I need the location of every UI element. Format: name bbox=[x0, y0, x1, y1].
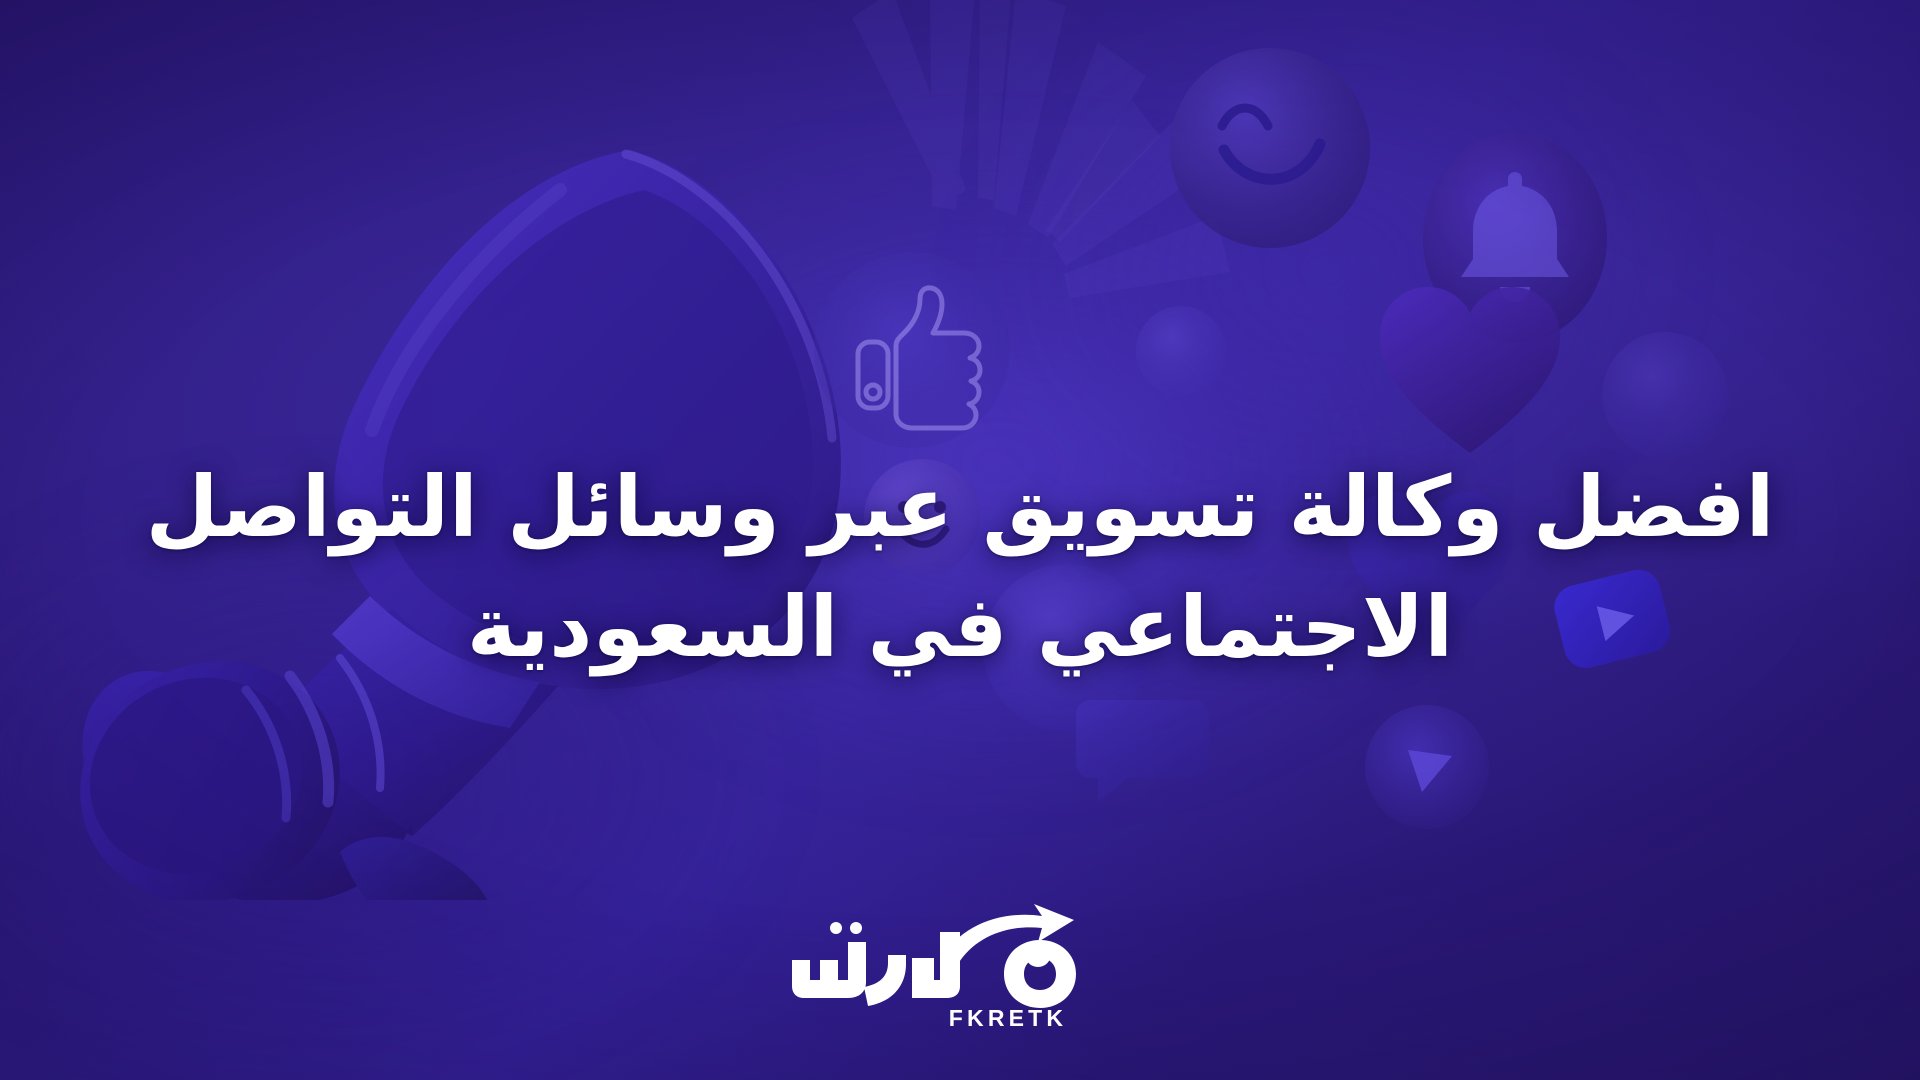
page-title: افضل وكالة تسويق عبر وسائل التواصل الاجت… bbox=[80, 448, 1840, 687]
logo-latin-name: FKRETK bbox=[949, 1005, 1067, 1032]
logo[interactable]: FKRETK bbox=[790, 902, 1130, 1034]
promo-banner: افضل وكالة تسويق عبر وسائل التواصل الاجت… bbox=[0, 0, 1920, 1080]
